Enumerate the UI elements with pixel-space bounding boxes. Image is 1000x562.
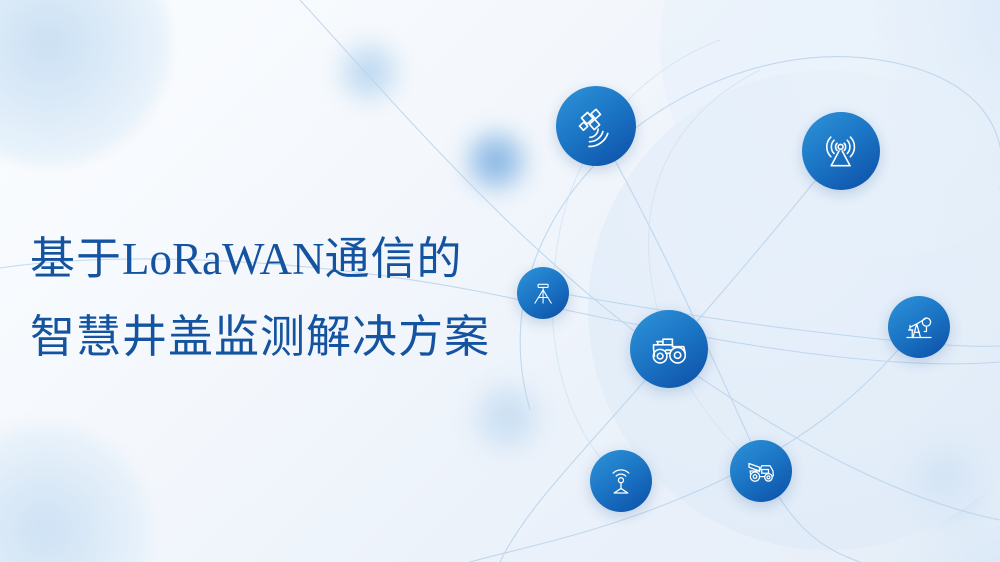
bg-blob-top-right-corner [880, 0, 1000, 160]
cover-slide: 基于LoRaWAN通信的 智慧井盖监测解决方案 [0, 0, 1000, 562]
node-sensor-beacon[interactable] [590, 450, 652, 512]
page-title-line-1: 基于LoRaWAN通信的 [30, 228, 590, 290]
title-prefix: 基于 [30, 233, 122, 284]
satellite-dish-icon [573, 103, 619, 149]
bg-blob-bottom-left [0, 425, 150, 562]
page-title-line-2: 智慧井盖监测解决方案 [30, 306, 590, 368]
bg-blob-right-edge [878, 462, 1000, 562]
node-oil-pumpjack[interactable] [888, 296, 950, 358]
bg-blob-bottom-right [905, 440, 985, 520]
oil-pumpjack-icon [901, 309, 937, 345]
sensor-beacon-icon [603, 463, 639, 499]
radio-tower-icon [818, 128, 863, 173]
node-harvester[interactable] [730, 440, 792, 502]
harvester-icon [743, 453, 779, 489]
bg-blob-mid-left [463, 128, 529, 194]
bg-blob-top-mid [335, 38, 403, 106]
bg-blob-top-left [0, 0, 170, 165]
title-block: 基于LoRaWAN通信的 智慧井盖监测解决方案 [30, 228, 590, 368]
node-tractor[interactable] [630, 310, 708, 388]
title-suffix: 通信的 [324, 233, 462, 284]
node-radio-tower[interactable] [802, 112, 880, 190]
title-latin-lorawan: LoRaWAN [122, 234, 324, 284]
bg-blob-center [468, 378, 546, 456]
tractor-icon [646, 326, 691, 371]
node-satellite-dish[interactable] [556, 86, 636, 166]
